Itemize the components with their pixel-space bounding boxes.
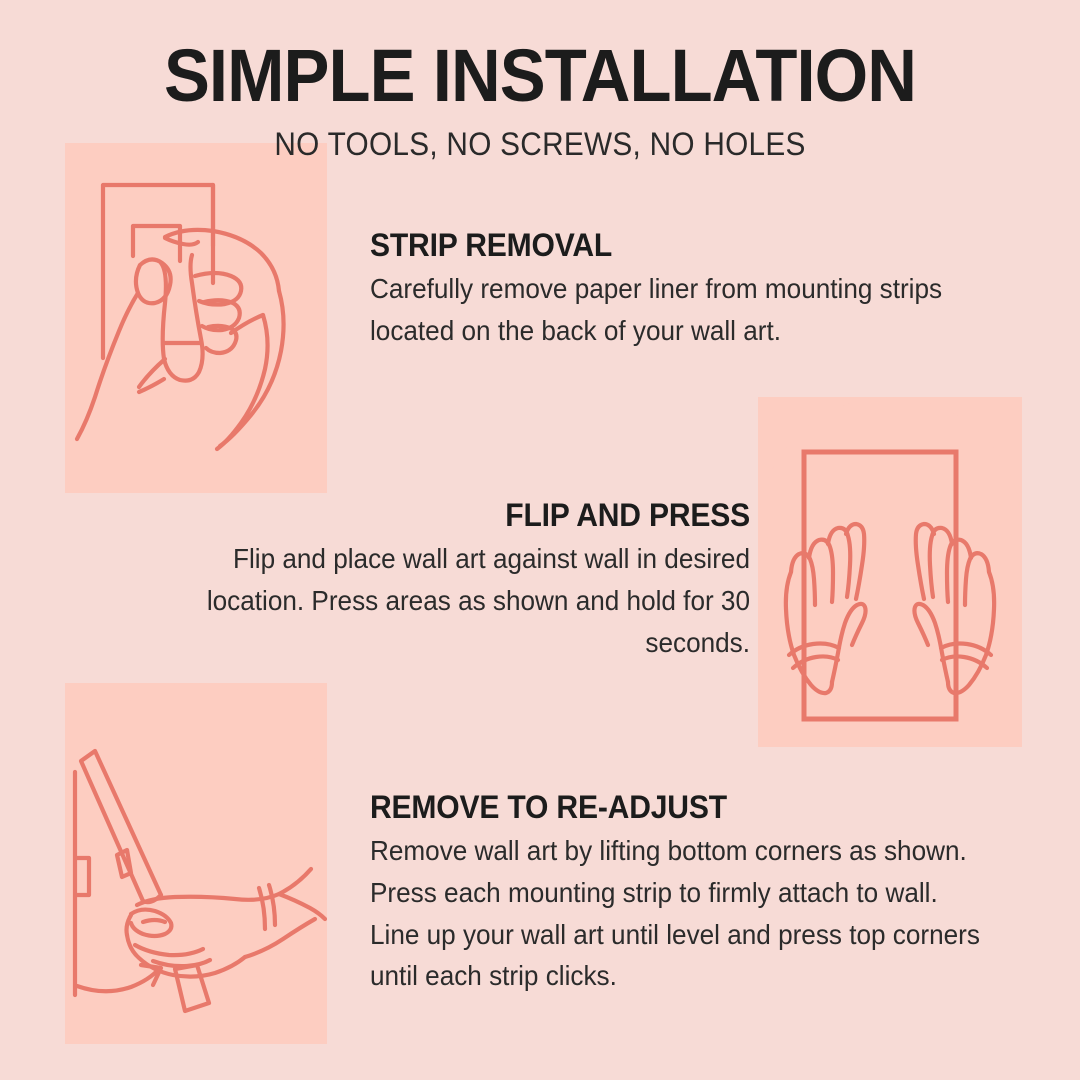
page-title: SIMPLE INSTALLATION [38, 0, 1042, 110]
page-subtitle: NO TOOLS, NO SCREWS, NO HOLES [38, 110, 1042, 163]
hand-lifting-corner-icon [65, 683, 327, 1044]
step-body: Carefully remove paper liner from mounti… [370, 268, 988, 352]
step-body: Flip and place wall art against wall in … [133, 538, 751, 663]
hand-peeling-strip-icon [65, 143, 327, 493]
illustration-panel-strip-removal [65, 143, 327, 493]
step-heading: STRIP REMOVAL [370, 227, 981, 264]
illustration-panel-flip-and-press [758, 397, 1022, 747]
illustration-panel-remove-readjust [65, 683, 327, 1044]
step-remove-to-readjust: REMOVE TO RE-ADJUST Remove wall art by l… [370, 789, 1020, 997]
step-heading: REMOVE TO RE-ADJUST [370, 789, 981, 826]
step-strip-removal: STRIP REMOVAL Carefully remove paper lin… [370, 227, 1020, 352]
step-body: Remove wall art by lifting bottom corner… [370, 830, 988, 997]
infographic-page: SIMPLE INSTALLATION NO TOOLS, NO SCREWS,… [0, 0, 1080, 1080]
step-heading: FLIP AND PRESS [139, 497, 750, 534]
header: SIMPLE INSTALLATION NO TOOLS, NO SCREWS,… [0, 0, 1080, 163]
two-hands-pressing-frame-icon [758, 397, 1022, 747]
step-flip-and-press: FLIP AND PRESS Flip and place wall art a… [100, 497, 750, 663]
